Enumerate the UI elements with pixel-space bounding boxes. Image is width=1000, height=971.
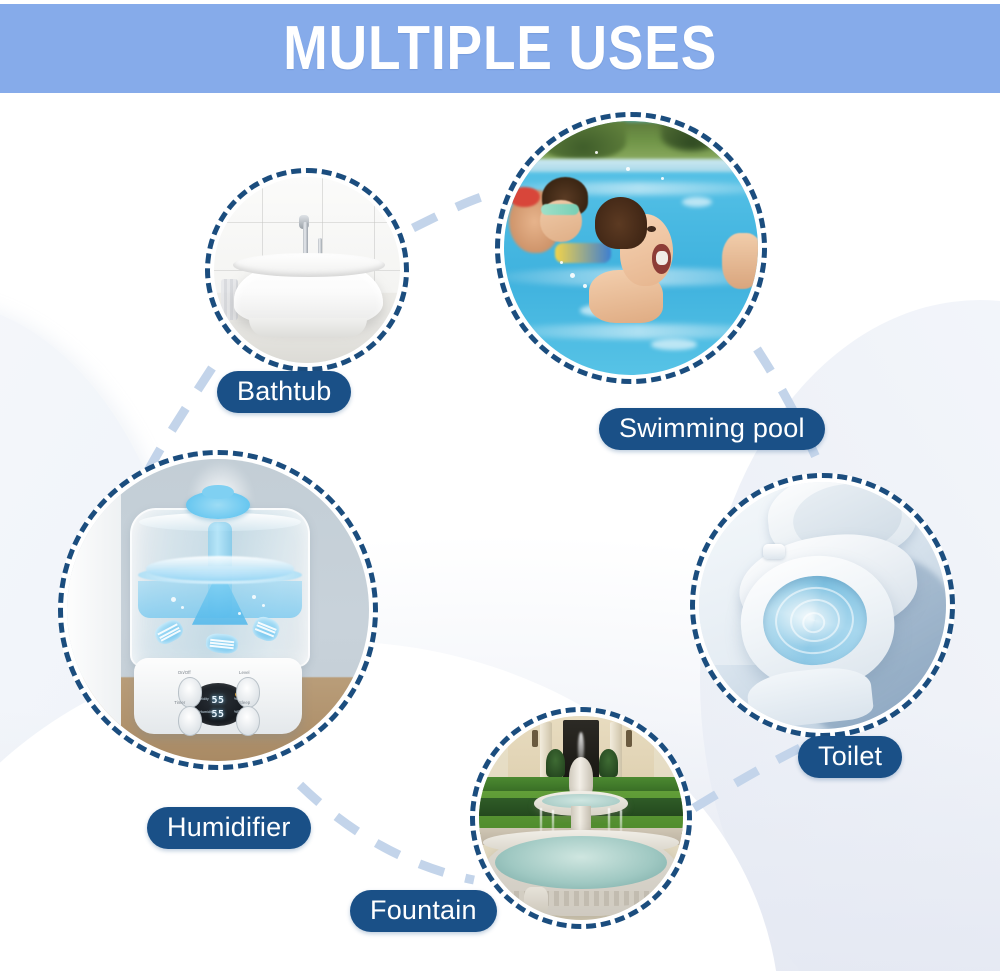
fountain-photo [479,716,683,920]
label-toilet[interactable]: Toilet [798,736,902,778]
label-swimming-pool-text: Swimming pool [619,413,805,443]
label-swimming-pool[interactable]: Swimming pool [599,408,825,450]
bathtub-photo [214,177,400,363]
connector-humidifier-fountain [300,785,474,880]
label-toilet-text: Toilet [818,741,882,771]
bathtub-circle-frame[interactable] [205,168,409,372]
humidifier-circle-frame[interactable]: 55 55 Humidity Set Humidity %RH %RH On/O… [58,450,378,770]
button-sleep-label: Sleep [239,700,250,705]
button-timer-label: Timer [174,700,185,705]
fountain-circle-frame[interactable] [470,707,692,929]
display-value-top: 55 [211,695,224,706]
label-humidifier[interactable]: Humidifier [147,807,311,849]
label-bathtub-text: Bathtub [237,376,331,406]
humidifier-photo: 55 55 Humidity Set Humidity %RH %RH On/O… [67,459,369,761]
label-bathtub[interactable]: Bathtub [217,371,351,413]
connector-bathtub-pool [413,192,498,228]
infographic-page: MULTIPLE USES [0,0,1000,971]
toilet-photo [699,482,946,729]
label-humidifier-text: Humidifier [167,812,291,842]
toilet-circle-frame[interactable] [690,473,955,738]
button-timer[interactable] [178,706,203,736]
humidifier-unit: 55 55 Humidity Set Humidity %RH %RH On/O… [130,498,305,734]
pool-circle-frame[interactable] [495,112,767,384]
pool-photo [504,121,758,375]
connector-fountain-toilet [694,748,800,808]
button-on-off-label: On/Off [178,670,191,675]
button-level-label: Level [239,670,250,675]
label-fountain[interactable]: Fountain [350,890,497,932]
button-sleep[interactable] [236,706,261,736]
label-fountain-text: Fountain [370,895,477,925]
